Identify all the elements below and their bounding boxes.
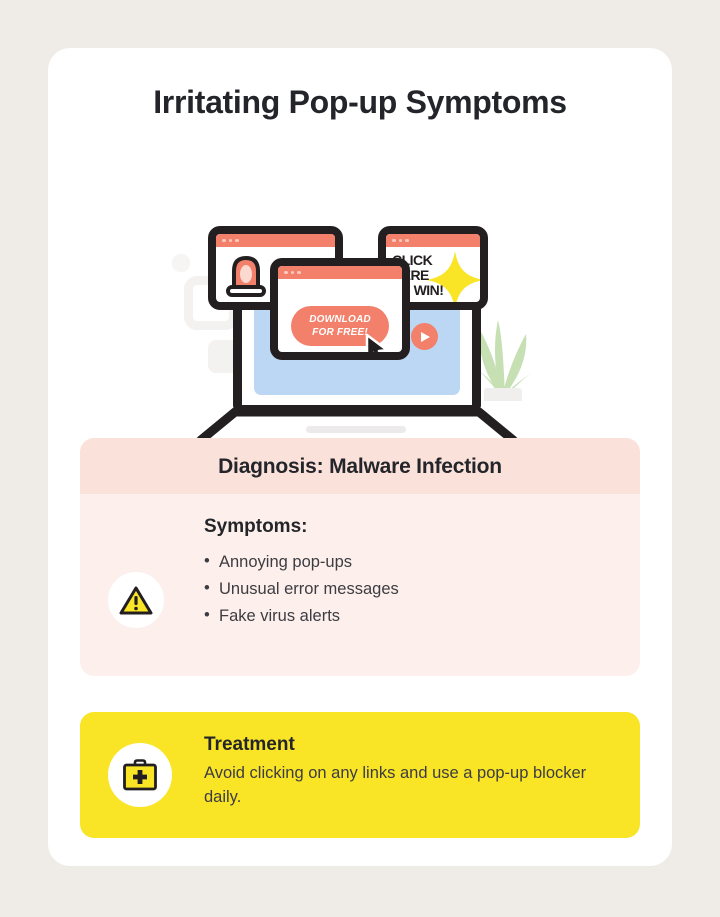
diagnosis-panel: Diagnosis: Malware Infection Symptoms: A… bbox=[80, 438, 640, 676]
list-item: Unusual error messages bbox=[204, 576, 616, 603]
popup-window-download[interactable]: DOWNLOAD FOR FREE! bbox=[270, 258, 410, 360]
popup-title-bar bbox=[386, 234, 480, 247]
popup-dot-icon bbox=[291, 271, 295, 275]
treatment-text: Avoid clicking on any links and use a po… bbox=[204, 761, 610, 809]
treatment-panel: Treatment Avoid clicking on any links an… bbox=[80, 712, 640, 838]
warning-icon-badge bbox=[108, 572, 164, 628]
popup-dot-icon bbox=[405, 239, 409, 243]
cursor-arrow-icon bbox=[364, 333, 390, 360]
download-button-line1: DOWNLOAD bbox=[309, 313, 371, 326]
popup-body: DOWNLOAD FOR FREE! bbox=[278, 279, 402, 352]
list-item: Annoying pop-ups bbox=[204, 549, 616, 576]
laptop-trackpad bbox=[306, 426, 406, 433]
popup-dot-icon bbox=[399, 239, 403, 243]
popup-dot-icon bbox=[222, 239, 226, 243]
symptoms-list: Annoying pop-ups Unusual error messages … bbox=[204, 549, 616, 630]
popup-dot-icon bbox=[284, 271, 288, 275]
play-button-icon bbox=[411, 323, 438, 350]
page-root: Irritating Pop-up Symptoms bbox=[0, 0, 720, 917]
popup-title-bar bbox=[216, 234, 335, 247]
popup-dot-icon bbox=[235, 239, 239, 243]
popup-title-bar bbox=[278, 266, 402, 279]
popup-dot-icon bbox=[229, 239, 233, 243]
decorative-square-tiny bbox=[172, 254, 190, 272]
page-title: Irritating Pop-up Symptoms bbox=[48, 84, 672, 121]
symptoms-title: Symptoms: bbox=[204, 516, 616, 538]
download-button-line2: FOR FREE! bbox=[312, 326, 368, 339]
list-item: Fake virus alerts bbox=[204, 603, 616, 630]
siren-icon bbox=[225, 253, 267, 303]
popup-dot-icon bbox=[297, 271, 301, 275]
diagnosis-header: Diagnosis: Malware Infection bbox=[80, 438, 640, 494]
warning-triangle-icon bbox=[119, 585, 153, 616]
popup-dot-icon bbox=[392, 239, 396, 243]
info-card: Irritating Pop-up Symptoms bbox=[48, 48, 672, 866]
first-aid-icon-badge bbox=[108, 743, 172, 807]
laptop-with-popups-illustration: VIRUS! CLICK HERE TO WIN! bbox=[48, 158, 672, 448]
first-aid-kit-icon bbox=[122, 759, 158, 791]
diagnosis-body: Symptoms: Annoying pop-ups Unusual error… bbox=[80, 494, 640, 676]
treatment-title: Treatment bbox=[204, 734, 610, 756]
